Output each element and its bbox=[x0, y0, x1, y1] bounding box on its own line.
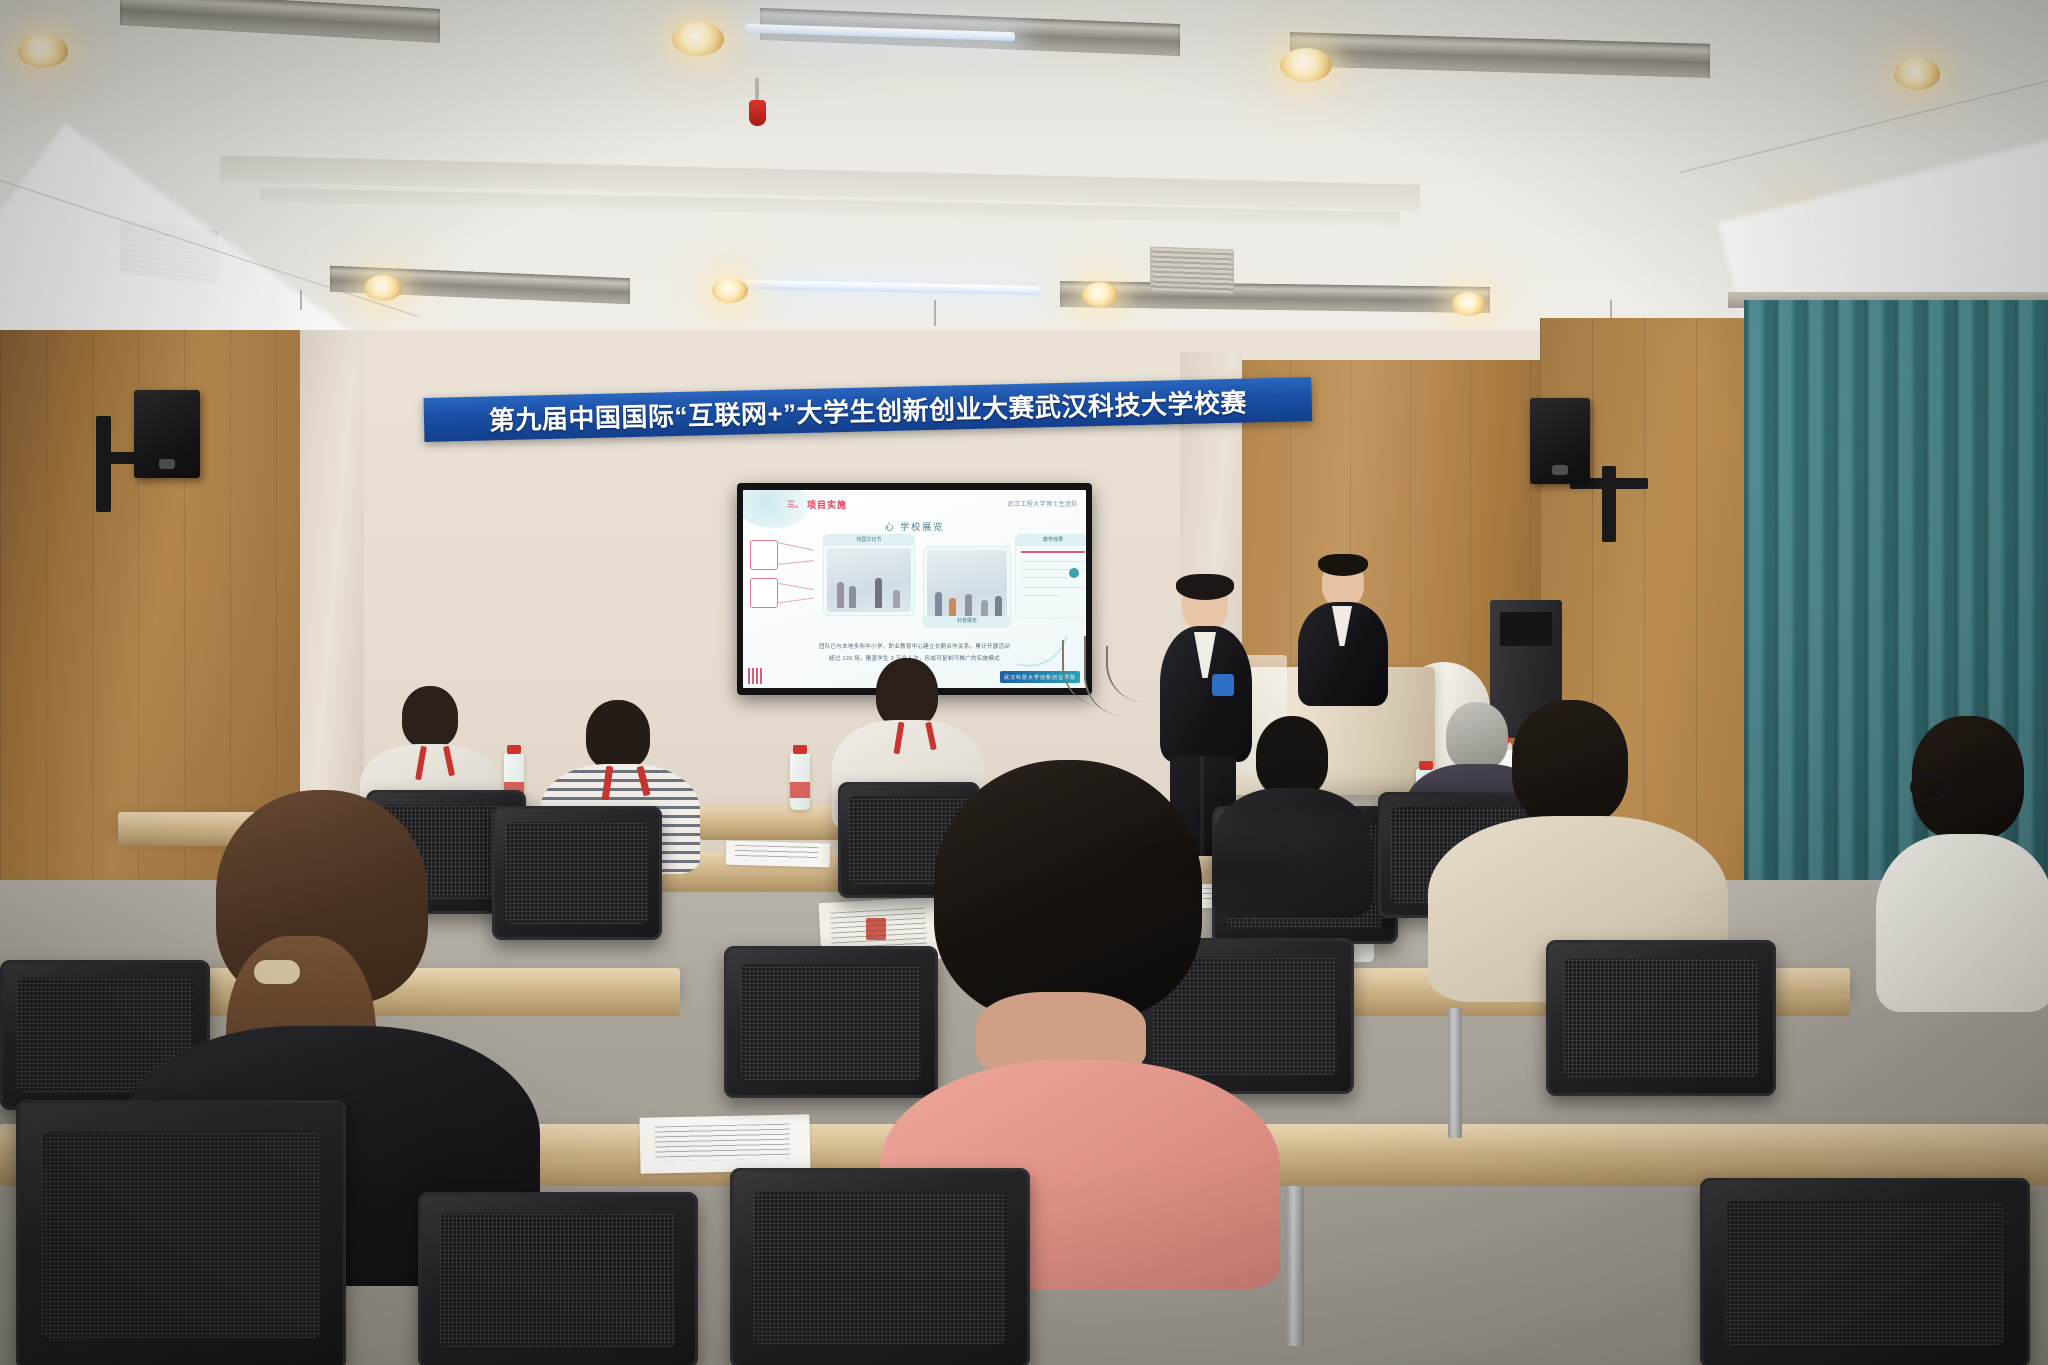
shadow-podium bbox=[1230, 786, 1490, 812]
slide-card-1-caption: 校园文化节 bbox=[824, 535, 914, 546]
judge-back-left-head bbox=[402, 686, 458, 748]
chair-foreground-mid[interactable] bbox=[418, 1192, 698, 1365]
slide-teal-badge bbox=[1069, 568, 1079, 578]
ceiling-wire-center bbox=[934, 300, 936, 326]
slide-card-3-caption: 教学成果 bbox=[1016, 535, 1086, 546]
pink-shirt-head bbox=[934, 760, 1202, 1020]
ceiling-downlight-2 bbox=[672, 22, 724, 56]
ceiling-downlight-5 bbox=[364, 275, 402, 301]
ceiling-downlight-1 bbox=[18, 34, 68, 68]
ceiling-downlight-4 bbox=[1894, 58, 1940, 90]
presenter-badge bbox=[1212, 674, 1234, 696]
presenter-hair-front bbox=[1176, 574, 1234, 600]
slide-diagram bbox=[750, 538, 816, 614]
judge-at-screen-head bbox=[876, 658, 938, 728]
slide-section-number: 三、 bbox=[787, 499, 803, 510]
slide-subtitle: 心 学校展览 bbox=[743, 520, 1086, 533]
ceiling-wire-left bbox=[300, 290, 302, 310]
fire-sprinkler-head bbox=[748, 78, 766, 130]
chair-foreground-center[interactable] bbox=[730, 1168, 1030, 1365]
chair-foreground-right[interactable] bbox=[1700, 1178, 2030, 1365]
right-wall-speaker bbox=[1530, 398, 1590, 484]
audience-right-beige-head bbox=[1512, 700, 1628, 826]
document-sheet-back-center bbox=[726, 841, 831, 868]
ceiling-downlight-3 bbox=[1280, 48, 1332, 82]
left-wall-speaker bbox=[134, 390, 200, 478]
water-bottle-3[interactable] bbox=[790, 752, 810, 810]
desk-leg-mid-right bbox=[1448, 1008, 1462, 1138]
ceiling-downlight-7 bbox=[1082, 282, 1118, 307]
slide-qr-code bbox=[748, 668, 764, 684]
audience-far-right-shirt bbox=[1876, 834, 2048, 1012]
slide-header-right: 武汉工程大学博士生团队 bbox=[1008, 499, 1078, 508]
desk-leg-center bbox=[1286, 1186, 1304, 1346]
left-speaker-mount-post bbox=[96, 416, 111, 512]
document-sheet-front-left bbox=[639, 1114, 810, 1174]
assistant-hair-fringe bbox=[1318, 554, 1368, 576]
air-vent-center bbox=[1150, 247, 1234, 296]
hair-tie bbox=[254, 960, 300, 984]
slide-card-2-caption: 科普展览 bbox=[924, 616, 1010, 627]
right-speaker-mount-post bbox=[1602, 466, 1616, 542]
chair-foreground-left[interactable] bbox=[16, 1100, 346, 1365]
standing-assistant bbox=[1292, 552, 1392, 722]
slide-card-1: 校园文化节 bbox=[823, 534, 915, 616]
shadow-presenter bbox=[1148, 858, 1288, 880]
eyeglasses-icon bbox=[1910, 772, 1950, 802]
audience-far-right-glasses bbox=[1876, 716, 2048, 1006]
conference-room-photo: 第九届中国国际“互联网+”大学生创新创业大赛武汉科技大学校赛 三、 项目实施 武… bbox=[0, 0, 2048, 1365]
slide-body-line-1: 团队已与本地多所中小学、职业教育中心建立长期合作关系，累计开展活动 bbox=[761, 643, 1068, 651]
chair-row3-right-b[interactable] bbox=[1546, 940, 1776, 1096]
slide-section-title: 项目实施 bbox=[807, 498, 847, 511]
judge-back-center-head bbox=[586, 700, 650, 770]
ceiling-downlight-6 bbox=[712, 278, 748, 303]
ceiling-downlight-8 bbox=[1452, 292, 1486, 316]
slide-card-2: 科普展览 bbox=[923, 546, 1011, 628]
